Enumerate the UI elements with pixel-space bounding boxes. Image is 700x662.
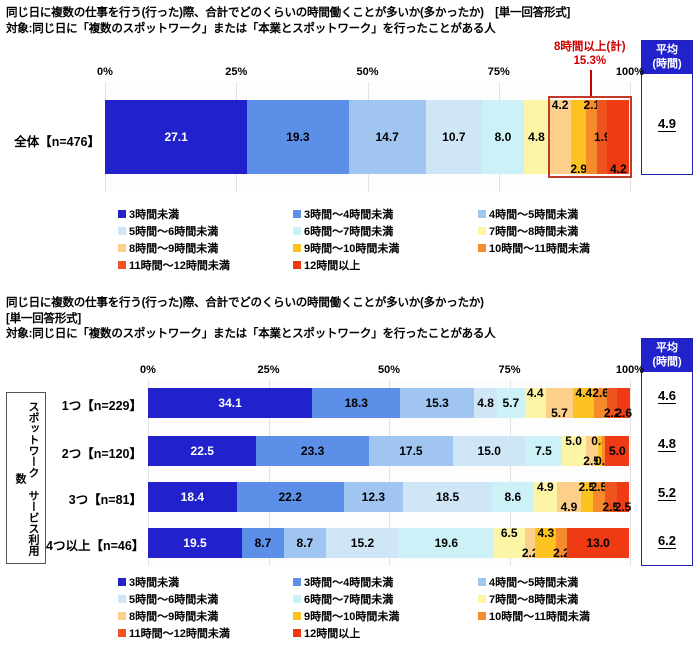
chart1-title-line-2: 対象:同じ日に「複数のスポットワーク」または「本業とスポットワーク」を行ったこと… <box>6 22 570 38</box>
axis-tick: 25% <box>257 364 279 376</box>
legend-swatch-icon <box>478 612 486 620</box>
bar-segment[interactable]: 5.0 <box>562 436 586 466</box>
legend-label: 5時間～6時間未満 <box>129 591 218 607</box>
chart1-legend-item[interactable]: 4時間～5時間未満 <box>478 206 668 222</box>
bar-segment[interactable]: 4.4 <box>573 388 594 418</box>
bar-segment[interactable]: 18.3 <box>312 388 400 418</box>
legend-swatch-icon <box>118 629 126 637</box>
bar-segment-label: 8.6 <box>505 490 522 504</box>
bar-segment-label: 2.6 <box>615 406 632 420</box>
axis-tick: 75% <box>488 66 510 78</box>
legend-swatch-icon <box>118 261 126 269</box>
chart1-row-label: 全体【n=476】 <box>0 131 100 150</box>
axis-tick: 25% <box>225 66 247 78</box>
bar-segment[interactable]: 8.0 <box>482 100 524 174</box>
legend-swatch-icon <box>118 210 126 218</box>
chart2-title-line-3: 対象:同じ日に「複数のスポットワーク」または「本業とスポットワーク」を行ったこと… <box>6 327 496 343</box>
bar-segment[interactable]: 19.3 <box>247 100 348 174</box>
chart2-average-value: 5.2 <box>658 485 676 501</box>
chart2-row-label: 1つ【n=229】 <box>46 395 142 414</box>
chart2-legend-item[interactable]: 3時間未満 <box>118 574 293 590</box>
chart1-legend-item[interactable]: 3時間～4時間未満 <box>293 206 478 222</box>
bar-segment-label: 5.0 <box>565 434 582 448</box>
chart2-group-label-line-1: スポットワーク <box>27 401 39 478</box>
bar-segment[interactable]: 34.1 <box>148 388 312 418</box>
bar-row[interactable]: 18.422.212.318.58.64.94.92.52.52.52.5 <box>148 482 630 512</box>
chart2-average-value: 4.8 <box>658 436 676 452</box>
bar-segment[interactable]: 10.7 <box>426 100 482 174</box>
chart2-title: 同じ日に複数の仕事を行う(行った)際、合計でどのくらいの時間働くことが多いか(多… <box>6 296 496 343</box>
bar-segment-label: 10.7 <box>442 130 465 144</box>
chart2-average-cell: 4.6 <box>642 372 692 420</box>
bar-segment-label: 15.0 <box>478 444 501 458</box>
legend-label: 6時間～7時間未満 <box>304 223 393 239</box>
chart2-legend-item[interactable]: 9時間～10時間未満 <box>293 608 478 624</box>
legend-label: 3時間～4時間未満 <box>304 206 393 222</box>
bar-segment-label: 12.3 <box>362 490 385 504</box>
chart1-legend-item[interactable]: 10時間～11時間未満 <box>478 240 668 256</box>
bar-segment[interactable]: 4.8 <box>474 388 497 418</box>
bar-segment[interactable]: 12.3 <box>344 482 403 512</box>
bar-segment[interactable]: 6.5 <box>494 528 525 558</box>
bar-segment[interactable]: 19.5 <box>148 528 242 558</box>
chart2-legend-item[interactable]: 10時間～11時間未満 <box>478 608 668 624</box>
bar-segment[interactable]: 18.5 <box>403 482 492 512</box>
chart2-legend-item[interactable]: 6時間～7時間未満 <box>293 591 478 607</box>
bar-segment[interactable]: 2.2 <box>525 528 536 558</box>
bar-segment[interactable]: 4.2 <box>607 100 629 174</box>
chart1-title: 同じ日に複数の仕事を行う(行った)際、合計でどのくらいの時間働くことが多いか(多… <box>6 6 570 37</box>
bar-segment-label: 4.2 <box>552 98 569 112</box>
bar-segment-label: 8.0 <box>495 130 512 144</box>
bar-segment-label: 13.0 <box>586 536 609 550</box>
legend-swatch-icon <box>478 227 486 235</box>
chart2-plot-area: 34.118.315.34.85.74.45.74.42.62.22.622.5… <box>148 380 630 566</box>
bar-segment-label: 4.4 <box>527 386 544 400</box>
bar-segment[interactable]: 22.2 <box>237 482 344 512</box>
bar-segment[interactable]: 14.7 <box>349 100 426 174</box>
axis-tick: 100% <box>616 364 644 376</box>
chart1-average-value: 4.9 <box>658 116 676 132</box>
legend-swatch-icon <box>293 612 301 620</box>
bar-segment[interactable]: 1.9 <box>597 100 607 174</box>
legend-label: 12時間以上 <box>304 625 360 641</box>
bar-segment[interactable]: 4.8 <box>524 100 549 174</box>
chart1-legend: 3時間未満3時間～4時間未満4時間～5時間未満5時間～6時間未満6時間～7時間未… <box>118 206 668 273</box>
bar-segment[interactable]: 4.2 <box>549 100 571 174</box>
legend-label: 11時間～12時間未満 <box>129 257 230 273</box>
bar-segment-label: 27.1 <box>164 130 187 144</box>
bar-segment-label: 5.0 <box>609 444 626 458</box>
legend-label: 7時間～8時間未満 <box>489 223 578 239</box>
legend-label: 3時間未満 <box>129 574 179 590</box>
legend-swatch-icon <box>293 578 301 586</box>
legend-swatch-icon <box>293 227 301 235</box>
legend-label: 7時間～8時間未満 <box>489 591 578 607</box>
chart2-legend-item[interactable]: 4時間～5時間未満 <box>478 574 668 590</box>
chart2-row-label: 4つ以上【n=46】 <box>46 535 142 554</box>
legend-swatch-icon <box>293 244 301 252</box>
chart1-average-cell: 4.9 <box>642 74 692 174</box>
bar-segment[interactable]: 4.9 <box>557 482 581 512</box>
bar-segment[interactable]: 4.9 <box>534 482 558 512</box>
bar-segment-label: 34.1 <box>218 396 241 410</box>
legend-swatch-icon <box>118 595 126 603</box>
legend-label: 8時間～9時間未満 <box>129 608 218 624</box>
legend-label: 12時間以上 <box>304 257 360 273</box>
legend-label: 3時間～4時間未満 <box>304 574 393 590</box>
chart2-row-label: 3つ【n=81】 <box>46 489 142 508</box>
legend-label: 9時間～10時間未満 <box>304 608 399 624</box>
chart2-title-line-2: [単一回答形式] <box>6 312 496 328</box>
legend-label: 6時間～7時間未満 <box>304 591 393 607</box>
bar-segment-label: 8.7 <box>255 536 272 550</box>
chart1-legend-item[interactable]: 7時間～8時間未満 <box>478 223 668 239</box>
bar-segment-label: 4.8 <box>477 396 494 410</box>
bar-segment-label: 14.7 <box>375 130 398 144</box>
chart2-legend-item[interactable]: 8時間～9時間未満 <box>118 608 293 624</box>
bar-segment[interactable]: 4.4 <box>525 388 546 418</box>
chart2-x-axis: 0%25%50%75%100% <box>0 364 700 378</box>
bar-segment-label: 6.5 <box>501 526 518 540</box>
bar-segment-label: 19.5 <box>183 536 206 550</box>
legend-label: 3時間未満 <box>129 206 179 222</box>
chart1-legend-item[interactable]: 11時間～12時間未満 <box>118 257 293 273</box>
chart2-group-label-text: スポットワーク サービス利用数 <box>13 397 39 559</box>
bar-row[interactable]: 22.523.317.515.07.55.02.50.80.85.0 <box>148 436 630 466</box>
axis-tick: 50% <box>356 66 378 78</box>
axis-tick: 75% <box>498 364 520 376</box>
bar-segment-label: 4.2 <box>610 162 627 176</box>
chart2-average-body: 4.64.85.26.2 <box>642 372 692 565</box>
chart2-legend: 3時間未満3時間～4時間未満4時間～5時間未満5時間～6時間未満6時間～7時間未… <box>118 574 668 641</box>
chart2-group-label: スポットワーク サービス利用数 <box>6 392 46 564</box>
chart1-legend-item[interactable]: 5時間～6時間未満 <box>118 223 293 239</box>
chart2-row-label: 2つ【n=120】 <box>46 443 142 462</box>
bar-row[interactable]: 34.118.315.34.85.74.45.74.42.62.22.6 <box>148 388 630 418</box>
bar-segment[interactable]: 13.0 <box>567 528 630 558</box>
bar-segment[interactable]: 2.5 <box>617 482 629 512</box>
bar-segment[interactable]: 8.7 <box>284 528 326 558</box>
bar-segment-label: 23.3 <box>301 444 324 458</box>
bar-row[interactable]: 27.119.314.710.78.04.84.22.92.11.94.2 <box>105 100 630 174</box>
bar-segment[interactable]: 5.0 <box>605 436 629 466</box>
chart2-average-value: 6.2 <box>658 533 676 549</box>
bar-segment-label: 5.7 <box>551 406 568 420</box>
chart1-legend-item[interactable]: 8時間～9時間未満 <box>118 240 293 256</box>
legend-swatch-icon <box>478 578 486 586</box>
legend-label: 11時間～12時間未満 <box>129 625 230 641</box>
bar-segment-label: 22.2 <box>279 490 302 504</box>
bar-segment[interactable]: 5.7 <box>546 388 573 418</box>
legend-swatch-icon <box>293 261 301 269</box>
bar-segment[interactable]: 7.5 <box>525 436 561 466</box>
bar-segment[interactable]: 18.4 <box>148 482 237 512</box>
chart2-legend-item[interactable]: 11時間～12時間未満 <box>118 625 293 641</box>
legend-label: 10時間～11時間未満 <box>489 608 590 624</box>
axis-tick: 50% <box>378 364 400 376</box>
bar-segment[interactable]: 27.1 <box>105 100 247 174</box>
chart1-x-axis: 0%25%50%75%100% <box>0 66 700 80</box>
bar-segment[interactable]: 22.5 <box>148 436 256 466</box>
chart2-group-label-line-2: サービス利用数 <box>14 473 39 556</box>
chart1-plot-area: 27.119.314.710.78.04.84.22.92.11.94.2 <box>105 82 630 192</box>
legend-swatch-icon <box>118 244 126 252</box>
chart2-title-line-1: 同じ日に複数の仕事を行う(行った)際、合計でどのくらいの時間働くことが多いか(多… <box>6 296 496 312</box>
chart2-legend-item[interactable]: 5時間～6時間未満 <box>118 591 293 607</box>
axis-tick: 100% <box>616 66 644 78</box>
chart2-average-cell: 5.2 <box>642 469 692 517</box>
bar-segment[interactable]: 15.3 <box>400 388 474 418</box>
legend-label: 10時間～11時間未満 <box>489 240 590 256</box>
legend-swatch-icon <box>293 595 301 603</box>
bar-segment-label: 2.9 <box>570 162 587 176</box>
bar-segment-label: 4.3 <box>537 526 554 540</box>
chart2-legend-item[interactable]: 12時間以上 <box>293 625 478 641</box>
legend-label: 4時間～5時間未満 <box>489 574 578 590</box>
chart2-legend-item[interactable]: 7時間～8時間未満 <box>478 591 668 607</box>
chart-page: 同じ日に複数の仕事を行う(行った)際、合計でどのくらいの時間働くことが多いか(多… <box>0 0 700 662</box>
bar-segment-label: 19.6 <box>435 536 458 550</box>
gridline <box>630 82 631 192</box>
axis-tick: 0% <box>140 364 156 376</box>
bar-segment-label: 22.5 <box>191 444 214 458</box>
bar-segment-label: 4.8 <box>528 130 545 144</box>
bar-segment[interactable]: 8.6 <box>492 482 533 512</box>
bar-segment-label: 2.5 <box>615 500 632 514</box>
bar-segment[interactable]: 5.7 <box>497 388 524 418</box>
chart1-legend-item[interactable]: 3時間未満 <box>118 206 293 222</box>
legend-label: 8時間～9時間未満 <box>129 240 218 256</box>
bar-segment[interactable]: 15.2 <box>326 528 399 558</box>
bar-segment-label: 4.4 <box>575 386 592 400</box>
bar-segment-label: 18.4 <box>181 490 204 504</box>
bar-segment-label: 18.5 <box>436 490 459 504</box>
bar-segment[interactable]: 19.6 <box>399 528 493 558</box>
chart1-legend-item[interactable]: 6時間～7時間未満 <box>293 223 478 239</box>
bar-segment-label: 7.5 <box>535 444 552 458</box>
legend-label: 5時間～6時間未満 <box>129 223 218 239</box>
chart2-average-cell: 6.2 <box>642 517 692 565</box>
legend-swatch-icon <box>478 210 486 218</box>
bar-segment-label: 4.9 <box>561 500 578 514</box>
legend-swatch-icon <box>118 612 126 620</box>
chart2-average-cell: 4.8 <box>642 420 692 468</box>
bar-segment-label: 17.5 <box>399 444 422 458</box>
legend-swatch-icon <box>118 227 126 235</box>
chart1-legend-item[interactable]: 12時間以上 <box>293 257 478 273</box>
bar-segment[interactable]: 23.3 <box>256 436 368 466</box>
bar-segment-label: 15.2 <box>351 536 374 550</box>
legend-label: 9時間～10時間未満 <box>304 240 399 256</box>
legend-swatch-icon <box>118 578 126 586</box>
legend-swatch-icon <box>293 210 301 218</box>
bar-segment-label: 5.7 <box>503 396 520 410</box>
bar-segment-label: 15.3 <box>425 396 448 410</box>
chart2-legend-item[interactable]: 3時間～4時間未満 <box>293 574 478 590</box>
chart1-average-body: 4.9 <box>642 74 692 174</box>
chart1-callout-line <box>590 70 592 96</box>
bar-segment[interactable]: 17.5 <box>369 436 453 466</box>
bar-segment-label: 19.3 <box>286 130 309 144</box>
chart2-average-header-line-1: 平均 <box>642 341 692 355</box>
bar-segment-label: 8.7 <box>297 536 314 550</box>
legend-label: 4時間～5時間未満 <box>489 206 578 222</box>
bar-segment-label: 4.9 <box>537 480 554 494</box>
chart1-callout: 8時間以上(計) 15.3% <box>515 40 665 68</box>
chart1-legend-item[interactable]: 9時間～10時間未満 <box>293 240 478 256</box>
legend-swatch-icon <box>478 244 486 252</box>
bar-segment[interactable]: 2.6 <box>617 388 630 418</box>
legend-swatch-icon <box>478 595 486 603</box>
bar-segment[interactable]: 2.2 <box>556 528 567 558</box>
bar-row[interactable]: 19.58.78.715.219.66.52.24.32.213.0 <box>148 528 630 558</box>
chart1-title-line-1: 同じ日に複数の仕事を行う(行った)際、合計でどのくらいの時間働くことが多いか(多… <box>6 6 570 22</box>
chart1-callout-label: 8時間以上(計) <box>554 41 626 53</box>
bar-segment[interactable]: 15.0 <box>453 436 525 466</box>
bar-segment-label: 18.3 <box>345 396 368 410</box>
legend-swatch-icon <box>293 629 301 637</box>
axis-tick: 0% <box>97 66 113 78</box>
bar-segment[interactable]: 8.7 <box>242 528 284 558</box>
chart2-average-value: 4.6 <box>658 388 676 404</box>
